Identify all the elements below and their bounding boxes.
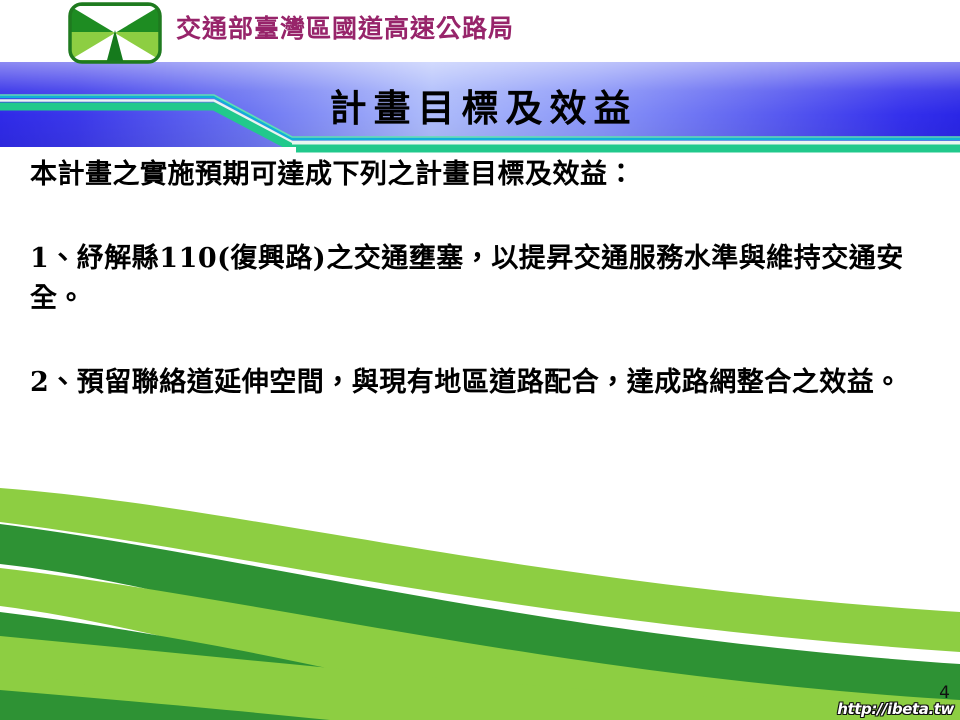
freeway-bureau-logo [66, 2, 164, 64]
body-paragraph-item-2: 2、預留聯絡道延伸空間，與現有地區道路配合，達成路網整合之效益。 [30, 363, 935, 403]
title-banner: 計畫目標及效益 [0, 62, 960, 147]
swoosh-light-2 [0, 568, 960, 720]
banner-stripe-tail [0, 140, 960, 154]
swoosh-dark-2 [0, 612, 560, 720]
body-paragraph-item-1: 1、紓解縣110(復興路)之交通壅塞，以提昇交通服務水準與維持交通安全。 [30, 239, 935, 319]
swoosh-dark-base [0, 690, 330, 720]
page-title: 計畫目標及效益 [0, 78, 960, 132]
watermark-url: http://ibeta.tw [837, 700, 954, 718]
slide-canvas: 交通部臺灣區國道高速公路局 計畫目標及效益 本計畫之實施預期可達成下列之計畫目標… [0, 0, 960, 720]
swoosh-dark-1 [0, 524, 960, 720]
swoosh-light-field [0, 636, 960, 720]
agency-name: 交通部臺灣區國道高速公路局 [176, 14, 514, 44]
slide-body: 本計畫之實施預期可達成下列之計畫目標及效益： 1、紓解縣110(復興路)之交通壅… [30, 155, 935, 403]
swoosh-light-1 [0, 488, 960, 652]
body-paragraph-intro: 本計畫之實施預期可達成下列之計畫目標及效益： [30, 155, 935, 195]
slide-header: 交通部臺灣區國道高速公路局 [0, 0, 960, 62]
swoosh-light-3 [0, 668, 400, 720]
